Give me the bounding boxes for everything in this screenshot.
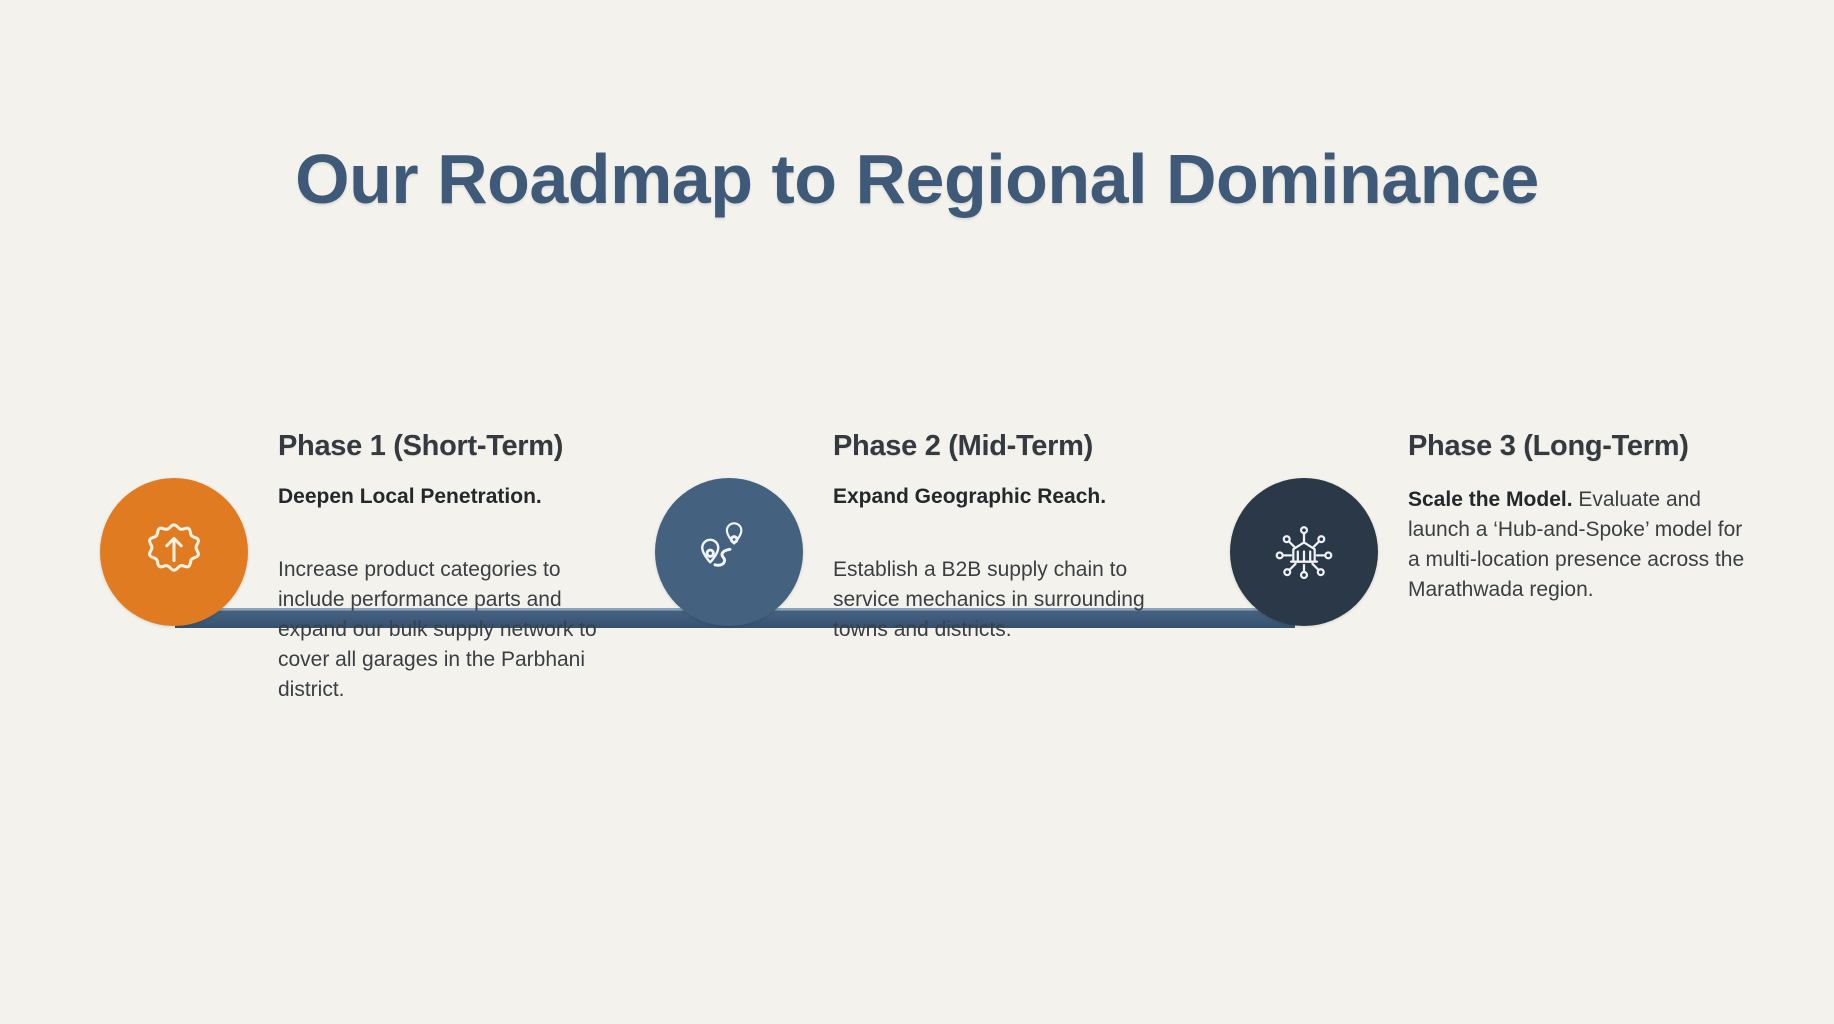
gear-up-arrow-icon xyxy=(137,515,211,589)
phase-3-text-block: Phase 3 (Long-Term) Scale the Model. Eva… xyxy=(1408,430,1748,605)
phase-1-body: Increase product categories to include p… xyxy=(278,555,618,705)
phase-1-node-circle[interactable] xyxy=(100,478,248,626)
phase-2-text-block: Phase 2 (Mid-Term) Expand Geographic Rea… xyxy=(833,430,1173,645)
phase-3-node-circle[interactable] xyxy=(1230,478,1378,626)
roadmap-timeline: Phase 1 (Short-Term) Deepen Local Penetr… xyxy=(0,430,1834,750)
phase-2-node-circle[interactable] xyxy=(655,478,803,626)
phase-2-body: Establish a B2B supply chain to service … xyxy=(833,555,1173,645)
slide-canvas: Our Roadmap to Regional Dominance Phase … xyxy=(0,0,1834,1024)
phase-1-lead: Deepen Local Penetration. xyxy=(278,485,618,509)
hub-and-spoke-building-icon xyxy=(1268,516,1340,588)
phase-1-text-block: Phase 1 (Short-Term) Deepen Local Penetr… xyxy=(278,430,618,705)
phase-3-heading: Phase 3 (Long-Term) xyxy=(1408,430,1748,463)
page-title: Our Roadmap to Regional Dominance xyxy=(0,143,1834,217)
phase-3-paragraph: Scale the Model. Evaluate and launch a ‘… xyxy=(1408,485,1748,605)
phase-2-lead: Expand Geographic Reach. xyxy=(833,485,1173,509)
map-pins-route-icon xyxy=(690,513,768,591)
phase-3-lead: Scale the Model. xyxy=(1408,488,1578,511)
phase-2-heading: Phase 2 (Mid-Term) xyxy=(833,430,1173,463)
phase-1-heading: Phase 1 (Short-Term) xyxy=(278,430,618,463)
